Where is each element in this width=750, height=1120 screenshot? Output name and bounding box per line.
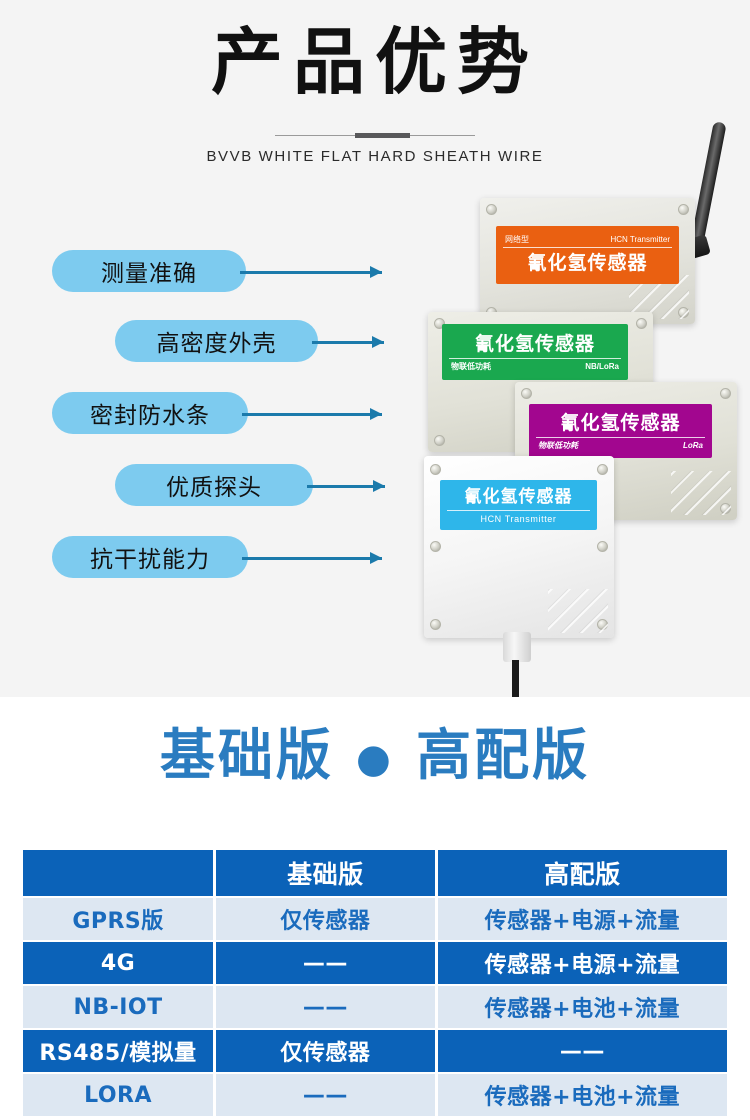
table-row: 4G —— 传感器+电源+流量 bbox=[23, 942, 727, 984]
feature-label: 测量准确 bbox=[101, 254, 197, 288]
feature-label: 高密度外壳 bbox=[157, 324, 277, 358]
table-cell-basic: 仅传感器 bbox=[216, 1030, 435, 1072]
table-cell-basic: —— bbox=[216, 942, 435, 984]
table-cell-basic: —— bbox=[216, 986, 435, 1028]
cable-gland bbox=[503, 632, 531, 662]
section-title-right: 高配版 bbox=[416, 723, 590, 787]
section-title-left: 基础版 bbox=[160, 723, 334, 787]
screw-icon bbox=[430, 464, 441, 475]
case-hatching bbox=[548, 589, 608, 633]
device-label-purple: 氰化氢传感器 物联低功耗 LoRa bbox=[529, 404, 712, 458]
device-label-bottom-right: LoRa bbox=[683, 441, 703, 450]
arrow-shaft bbox=[242, 557, 382, 560]
feature-arrow-2 bbox=[312, 336, 384, 348]
label-rule bbox=[449, 358, 621, 359]
device-label-orange: 网络型 HCN Transmitter 氰化氢传感器 bbox=[496, 226, 679, 284]
device-label-bottom-left: 物联低功耗 bbox=[451, 361, 491, 372]
feature-arrow-1 bbox=[240, 266, 382, 278]
table-cell-basic: —— bbox=[216, 1074, 435, 1116]
screw-icon bbox=[486, 204, 497, 215]
table-header-cell-2: 高配版 bbox=[438, 850, 727, 896]
table-cell-premium: 传感器+电池+流量 bbox=[438, 986, 727, 1028]
table-cell-premium: 传感器+电源+流量 bbox=[438, 942, 727, 984]
hero-banner: 产品优势 BVVB WHITE FLAT HARD SHEATH WIRE 测量… bbox=[0, 0, 750, 697]
table-cell-feature: LORA bbox=[23, 1074, 213, 1116]
device-label-bottom-right: NB/LoRa bbox=[585, 362, 619, 371]
device-label-top-right: HCN Transmitter bbox=[610, 235, 670, 244]
feature-label: 优质探头 bbox=[166, 468, 262, 502]
table-cell-basic: 仅传感器 bbox=[216, 898, 435, 940]
screw-icon bbox=[597, 541, 608, 552]
device-label-name: 氰化氢传感器 bbox=[440, 486, 597, 508]
table-cell-feature: NB-IOT bbox=[23, 986, 213, 1028]
product-photo-group: 网络型 HCN Transmitter 氰化氢传感器 氰化氢传感器 物联低功耗 … bbox=[380, 120, 750, 697]
feature-label: 密封防水条 bbox=[90, 396, 210, 430]
page-title: 产品优势 bbox=[0, 26, 750, 98]
table-cell-premium: 传感器+电源+流量 bbox=[438, 898, 727, 940]
screw-icon bbox=[430, 619, 441, 630]
device-label-bottom-left: 物联低功耗 bbox=[538, 440, 578, 451]
table-row: GPRS版 仅传感器 传感器+电源+流量 bbox=[23, 898, 727, 940]
feature-arrow-3 bbox=[242, 408, 382, 420]
arrow-shaft bbox=[242, 413, 382, 416]
table-cell-premium: —— bbox=[438, 1030, 727, 1072]
arrow-shaft bbox=[240, 271, 382, 274]
feature-pill-4: 优质探头 bbox=[115, 464, 313, 506]
screw-icon bbox=[597, 464, 608, 475]
section-title: 基础版 ● 高配版 bbox=[0, 728, 750, 783]
table-header-row: 基础版 高配版 bbox=[23, 850, 727, 896]
device-label-white: 氰化氢传感器 HCN Transmitter bbox=[440, 480, 597, 530]
label-rule bbox=[503, 247, 672, 248]
feature-pill-5: 抗干扰能力 bbox=[52, 536, 248, 578]
comparison-table: 基础版 高配版 GPRS版 仅传感器 传感器+电源+流量 4G —— 传感器+电… bbox=[20, 848, 730, 1118]
table-row: RS485/模拟量 仅传感器 —— bbox=[23, 1030, 727, 1072]
screw-icon bbox=[636, 318, 647, 329]
table-cell-feature: GPRS版 bbox=[23, 898, 213, 940]
device-white-hcn: 氰化氢传感器 HCN Transmitter bbox=[424, 456, 614, 638]
device-orange-network: 网络型 HCN Transmitter 氰化氢传感器 bbox=[480, 198, 695, 324]
section-title-dot: ● bbox=[356, 736, 394, 782]
device-label-top-left: 网络型 bbox=[505, 234, 529, 245]
screw-icon bbox=[521, 388, 532, 399]
screw-icon bbox=[720, 388, 731, 399]
label-rule bbox=[447, 510, 590, 511]
table-row: NB-IOT —— 传感器+电池+流量 bbox=[23, 986, 727, 1028]
screw-icon bbox=[678, 204, 689, 215]
feature-arrow-5 bbox=[242, 552, 382, 564]
table-header-cell-1: 基础版 bbox=[216, 850, 435, 896]
feature-pill-1: 测量准确 bbox=[52, 250, 246, 292]
table-cell-feature: RS485/模拟量 bbox=[23, 1030, 213, 1072]
screw-icon bbox=[434, 435, 445, 446]
feature-label: 抗干扰能力 bbox=[90, 540, 210, 574]
device-label-name: 氰化氢传感器 bbox=[442, 332, 628, 356]
screw-icon bbox=[430, 541, 441, 552]
device-label-green: 氰化氢传感器 物联低功耗 NB/LoRa bbox=[442, 324, 628, 380]
feature-arrow-4 bbox=[307, 480, 385, 492]
table-header-cell-0 bbox=[23, 850, 213, 896]
device-label-name: 氰化氢传感器 bbox=[496, 250, 679, 276]
table-row: LORA —— 传感器+电池+流量 bbox=[23, 1074, 727, 1116]
table-cell-feature: 4G bbox=[23, 942, 213, 984]
table-cell-premium: 传感器+电池+流量 bbox=[438, 1074, 727, 1116]
label-rule bbox=[536, 437, 705, 438]
device-label-name: 氰化氢传感器 bbox=[529, 411, 712, 435]
feature-pill-2: 高密度外壳 bbox=[115, 320, 318, 362]
device-label-subtitle: HCN Transmitter bbox=[440, 513, 597, 524]
feature-pill-3: 密封防水条 bbox=[52, 392, 248, 434]
case-hatching bbox=[671, 471, 731, 515]
